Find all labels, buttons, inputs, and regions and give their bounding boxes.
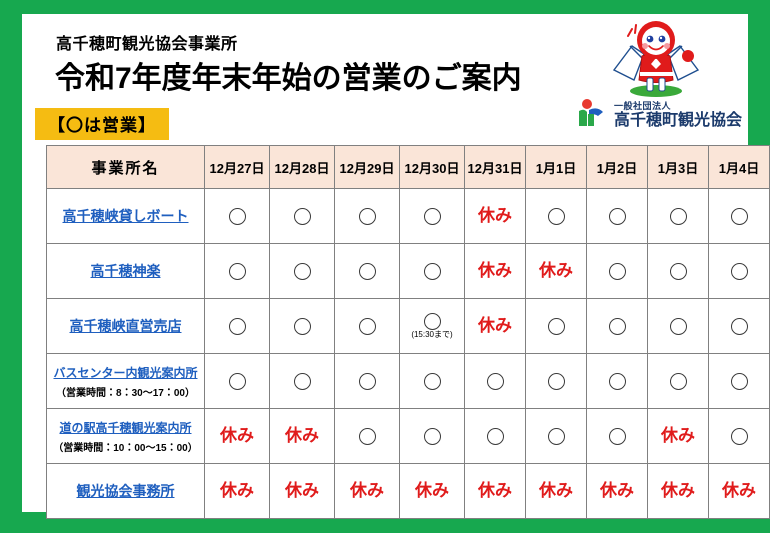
schedule-cell bbox=[205, 189, 270, 244]
schedule-cell: 休み bbox=[465, 299, 526, 354]
cell-status-closed: 休み bbox=[588, 482, 646, 501]
schedule-table: 事業所名 12月27日12月28日12月29日12月30日12月31日1月1日1… bbox=[46, 145, 770, 519]
open-circle-icon bbox=[424, 263, 441, 280]
schedule-cell: (15:30まで) bbox=[400, 299, 465, 354]
cell-status-closed: 休み bbox=[466, 207, 524, 226]
office-name-link[interactable]: バスセンター内観光案内所 bbox=[53, 364, 197, 381]
cell-status-closed: 休み bbox=[466, 317, 524, 336]
cell-status-closed: 休み bbox=[336, 482, 398, 501]
page-title: 令和7年度年末年始の営業のご案内 bbox=[55, 53, 522, 97]
open-circle-icon bbox=[359, 373, 376, 390]
schedule-cell bbox=[648, 189, 709, 244]
column-header-date-3: 12月30日 bbox=[400, 146, 465, 189]
schedule-cell: 休み bbox=[465, 464, 526, 519]
open-circle-icon bbox=[487, 373, 504, 390]
column-header-name: 事業所名 bbox=[47, 146, 205, 189]
column-header-date-0: 12月27日 bbox=[205, 146, 270, 189]
cell-status-open bbox=[710, 263, 768, 280]
cell-status-open bbox=[336, 318, 398, 335]
open-circle-icon bbox=[229, 208, 246, 225]
closed-label: 休み bbox=[478, 207, 512, 226]
schedule-cell bbox=[270, 244, 335, 299]
open-circle-icon bbox=[548, 373, 565, 390]
schedule-cell bbox=[400, 354, 465, 409]
open-circle-icon bbox=[548, 208, 565, 225]
cell-status-open bbox=[271, 318, 333, 335]
open-circle-icon bbox=[670, 373, 687, 390]
closed-label: 休み bbox=[220, 427, 254, 446]
organization-line: 高千穂町観光協会事業所 bbox=[56, 30, 238, 54]
row-header-office: 高千穂神楽 bbox=[47, 244, 205, 299]
cell-status-open bbox=[336, 208, 398, 225]
cell-time-note: (15:30まで) bbox=[411, 331, 452, 340]
schedule-cell bbox=[335, 189, 400, 244]
office-name-link[interactable]: 道の駅高千穂観光案内所 bbox=[59, 419, 191, 436]
cell-status-open bbox=[336, 373, 398, 390]
schedule-cell: 休み bbox=[648, 464, 709, 519]
association-name: 高千穂町観光協会 bbox=[614, 113, 742, 129]
cell-status-closed: 休み bbox=[271, 482, 333, 501]
cell-status-open bbox=[271, 208, 333, 225]
cell-status-closed: 休み bbox=[271, 427, 333, 446]
schedule-cell bbox=[270, 189, 335, 244]
cell-status-open bbox=[206, 318, 268, 335]
schedule-cell bbox=[400, 409, 465, 464]
schedule-cell bbox=[465, 409, 526, 464]
cell-status-open bbox=[710, 208, 768, 225]
closed-label: 休み bbox=[600, 482, 634, 501]
table-row: バスセンター内観光案内所（営業時間：8：30〜17：00） bbox=[47, 354, 770, 409]
schedule-cell bbox=[335, 299, 400, 354]
office-name-link[interactable]: 高千穂神楽 bbox=[91, 261, 161, 281]
schedule-cell: 休み bbox=[465, 244, 526, 299]
open-circle-icon bbox=[731, 263, 748, 280]
cell-status-open bbox=[466, 428, 524, 445]
schedule-cell: 休み bbox=[648, 409, 709, 464]
schedule-cell bbox=[709, 299, 770, 354]
schedule-cell: 休み bbox=[205, 409, 270, 464]
office-name-link[interactable]: 高千穂峡直営売店 bbox=[70, 316, 182, 336]
cell-status-open bbox=[271, 373, 333, 390]
column-header-date-4: 12月31日 bbox=[465, 146, 526, 189]
schedule-cell: 休み bbox=[205, 464, 270, 519]
open-circle-icon bbox=[670, 208, 687, 225]
schedule-cell bbox=[400, 189, 465, 244]
open-circle-icon bbox=[548, 428, 565, 445]
row-header-office: バスセンター内観光案内所（営業時間：8：30〜17：00） bbox=[47, 354, 205, 409]
row-header-office: 道の駅高千穂観光案内所（営業時間：10：00〜15：00） bbox=[47, 409, 205, 464]
schedule-cell: 休み bbox=[270, 464, 335, 519]
closed-label: 休み bbox=[285, 482, 319, 501]
cell-status-open bbox=[527, 318, 585, 335]
schedule-cell bbox=[335, 244, 400, 299]
cell-status-open bbox=[588, 263, 646, 280]
table-row: 観光協会事務所休み休み休み休み休み休み休み休み休み bbox=[47, 464, 770, 519]
cell-status-closed: 休み bbox=[710, 482, 768, 501]
column-header-date-7: 1月3日 bbox=[648, 146, 709, 189]
table-row: 高千穂峡貸しボート休み bbox=[47, 189, 770, 244]
schedule-cell bbox=[526, 299, 587, 354]
open-circle-icon bbox=[731, 318, 748, 335]
column-header-date-6: 1月2日 bbox=[587, 146, 648, 189]
office-name-link[interactable]: 高千穂峡貸しボート bbox=[63, 206, 189, 226]
schedule-cell: 休み bbox=[587, 464, 648, 519]
closed-label: 休み bbox=[220, 482, 254, 501]
open-circle-icon bbox=[229, 263, 246, 280]
schedule-cell bbox=[335, 354, 400, 409]
schedule-cell bbox=[465, 354, 526, 409]
column-header-date-1: 12月28日 bbox=[270, 146, 335, 189]
closed-label: 休み bbox=[722, 482, 756, 501]
cell-status-open: (15:30まで) bbox=[401, 313, 463, 340]
schedule-cell bbox=[526, 189, 587, 244]
open-circle-icon bbox=[424, 208, 441, 225]
open-circle-icon bbox=[424, 428, 441, 445]
cell-status-closed: 休み bbox=[527, 262, 585, 281]
cell-status-closed: 休み bbox=[401, 482, 463, 501]
schedule-table-wrap: 事業所名 12月27日12月28日12月29日12月30日12月31日1月1日1… bbox=[46, 145, 726, 519]
open-circle-icon bbox=[294, 263, 311, 280]
schedule-cell bbox=[526, 354, 587, 409]
open-circle-icon bbox=[294, 318, 311, 335]
table-row: 道の駅高千穂観光案内所（営業時間：10：00〜15：00）休み休み休み bbox=[47, 409, 770, 464]
association-text: 一般社団法人 高千穂町観光協会 bbox=[614, 102, 742, 129]
open-circle-icon bbox=[731, 428, 748, 445]
table-row: 高千穂神楽休み休み bbox=[47, 244, 770, 299]
schedule-cell bbox=[335, 409, 400, 464]
cell-status-open bbox=[401, 263, 463, 280]
closed-label: 休み bbox=[539, 262, 573, 281]
schedule-table-body: 高千穂峡貸しボート休み高千穂神楽休み休み高千穂峡直営売店(15:30まで)休みバ… bbox=[47, 189, 770, 519]
schedule-cell bbox=[526, 409, 587, 464]
association-logo: 一般社団法人 高千穂町観光協会 bbox=[576, 98, 742, 133]
schedule-cell bbox=[587, 244, 648, 299]
column-header-date-5: 1月1日 bbox=[526, 146, 587, 189]
open-circle-icon bbox=[487, 428, 504, 445]
cell-status-open bbox=[336, 428, 398, 445]
open-circle-icon bbox=[731, 208, 748, 225]
open-circle-icon bbox=[670, 318, 687, 335]
office-hours-note: （営業時間：10：00〜15：00） bbox=[51, 439, 200, 454]
cell-status-open bbox=[206, 263, 268, 280]
schedule-cell bbox=[587, 189, 648, 244]
open-circle-icon bbox=[359, 263, 376, 280]
schedule-cell: 休み bbox=[709, 464, 770, 519]
schedule-table-head: 事業所名 12月27日12月28日12月29日12月30日12月31日1月1日1… bbox=[47, 146, 770, 189]
cell-status-open bbox=[710, 373, 768, 390]
closed-label: 休み bbox=[539, 482, 573, 501]
cell-status-open bbox=[527, 208, 585, 225]
closed-label: 休み bbox=[350, 482, 384, 501]
cell-status-open bbox=[649, 373, 707, 390]
open-circle-icon bbox=[229, 373, 246, 390]
office-name-link[interactable]: 観光協会事務所 bbox=[77, 481, 175, 501]
page-header: 高千穂町観光協会事業所 令和7年度年末年始の営業のご案内 【〇は営業】 bbox=[22, 14, 748, 146]
cell-status-open bbox=[401, 428, 463, 445]
cell-status-closed: 休み bbox=[206, 427, 268, 446]
open-circle-icon bbox=[609, 208, 626, 225]
table-header-row: 事業所名 12月27日12月28日12月29日12月30日12月31日1月1日1… bbox=[47, 146, 770, 189]
open-circle-icon bbox=[609, 428, 626, 445]
open-circle-icon bbox=[359, 318, 376, 335]
notice-page: 高千穂町観光協会事業所 令和7年度年末年始の営業のご案内 【〇は営業】 bbox=[22, 14, 748, 512]
cell-status-open bbox=[710, 428, 768, 445]
schedule-cell bbox=[709, 244, 770, 299]
schedule-cell bbox=[709, 409, 770, 464]
schedule-cell: 休み bbox=[400, 464, 465, 519]
cell-status-open bbox=[401, 373, 463, 390]
open-circle-icon bbox=[548, 318, 565, 335]
table-row: 高千穂峡直営売店(15:30まで)休み bbox=[47, 299, 770, 354]
schedule-cell bbox=[205, 299, 270, 354]
cell-status-open bbox=[336, 263, 398, 280]
open-circle-icon bbox=[229, 318, 246, 335]
open-circle-icon bbox=[609, 373, 626, 390]
cell-status-closed: 休み bbox=[466, 262, 524, 281]
closed-label: 休み bbox=[661, 482, 695, 501]
open-circle-icon bbox=[731, 373, 748, 390]
cell-status-closed: 休み bbox=[649, 427, 707, 446]
schedule-cell bbox=[648, 244, 709, 299]
schedule-cell bbox=[205, 244, 270, 299]
schedule-cell bbox=[400, 244, 465, 299]
cell-status-open bbox=[588, 208, 646, 225]
closed-label: 休み bbox=[415, 482, 449, 501]
schedule-cell bbox=[648, 299, 709, 354]
cell-status-open bbox=[271, 263, 333, 280]
cell-status-open bbox=[466, 373, 524, 390]
closed-label: 休み bbox=[661, 427, 695, 446]
cell-status-open bbox=[588, 428, 646, 445]
cell-status-open bbox=[588, 373, 646, 390]
closed-label: 休み bbox=[478, 317, 512, 336]
cell-status-open bbox=[527, 428, 585, 445]
open-circle-icon bbox=[294, 208, 311, 225]
open-circle-icon bbox=[609, 318, 626, 335]
schedule-cell bbox=[648, 354, 709, 409]
schedule-cell: 休み bbox=[335, 464, 400, 519]
takachiho-mascot-icon bbox=[604, 18, 708, 103]
open-circle-icon bbox=[424, 373, 441, 390]
schedule-cell bbox=[270, 354, 335, 409]
association-mark-icon bbox=[576, 98, 610, 133]
cell-status-closed: 休み bbox=[206, 482, 268, 501]
open-circle-icon bbox=[359, 428, 376, 445]
open-circle-icon bbox=[294, 373, 311, 390]
cell-status-closed: 休み bbox=[649, 482, 707, 501]
open-circle-icon bbox=[359, 208, 376, 225]
schedule-cell bbox=[587, 354, 648, 409]
schedule-cell: 休み bbox=[526, 464, 587, 519]
closed-label: 休み bbox=[478, 262, 512, 281]
open-circle-icon bbox=[609, 263, 626, 280]
cell-status-open bbox=[206, 373, 268, 390]
column-header-date-8: 1月4日 bbox=[709, 146, 770, 189]
logo-block: 一般社団法人 高千穂町観光協会 bbox=[576, 16, 736, 144]
cell-status-closed: 休み bbox=[466, 482, 524, 501]
row-header-office: 高千穂峡直営売店 bbox=[47, 299, 205, 354]
schedule-cell: 休み bbox=[526, 244, 587, 299]
schedule-cell bbox=[270, 299, 335, 354]
cell-status-open bbox=[649, 263, 707, 280]
row-header-office: 高千穂峡貸しボート bbox=[47, 189, 205, 244]
closed-label: 休み bbox=[478, 482, 512, 501]
schedule-cell bbox=[205, 354, 270, 409]
closed-label: 休み bbox=[285, 427, 319, 446]
column-header-date-2: 12月29日 bbox=[335, 146, 400, 189]
office-hours-note: （営業時間：8：30〜17：00） bbox=[51, 384, 200, 399]
cell-status-open bbox=[588, 318, 646, 335]
cell-status-open bbox=[649, 208, 707, 225]
schedule-cell bbox=[709, 189, 770, 244]
cell-status-open bbox=[527, 373, 585, 390]
cell-status-open bbox=[710, 318, 768, 335]
cell-status-open bbox=[401, 208, 463, 225]
cell-status-closed: 休み bbox=[527, 482, 585, 501]
cell-status-open bbox=[649, 318, 707, 335]
open-circle-icon bbox=[424, 313, 441, 330]
schedule-cell bbox=[587, 299, 648, 354]
association-kind: 一般社団法人 bbox=[614, 102, 742, 111]
open-circle-icon bbox=[670, 263, 687, 280]
row-header-office: 観光協会事務所 bbox=[47, 464, 205, 519]
legend-badge: 【〇は営業】 bbox=[35, 108, 169, 140]
schedule-cell bbox=[709, 354, 770, 409]
schedule-cell: 休み bbox=[270, 409, 335, 464]
schedule-cell: 休み bbox=[465, 189, 526, 244]
cell-status-open bbox=[206, 208, 268, 225]
schedule-cell bbox=[587, 409, 648, 464]
